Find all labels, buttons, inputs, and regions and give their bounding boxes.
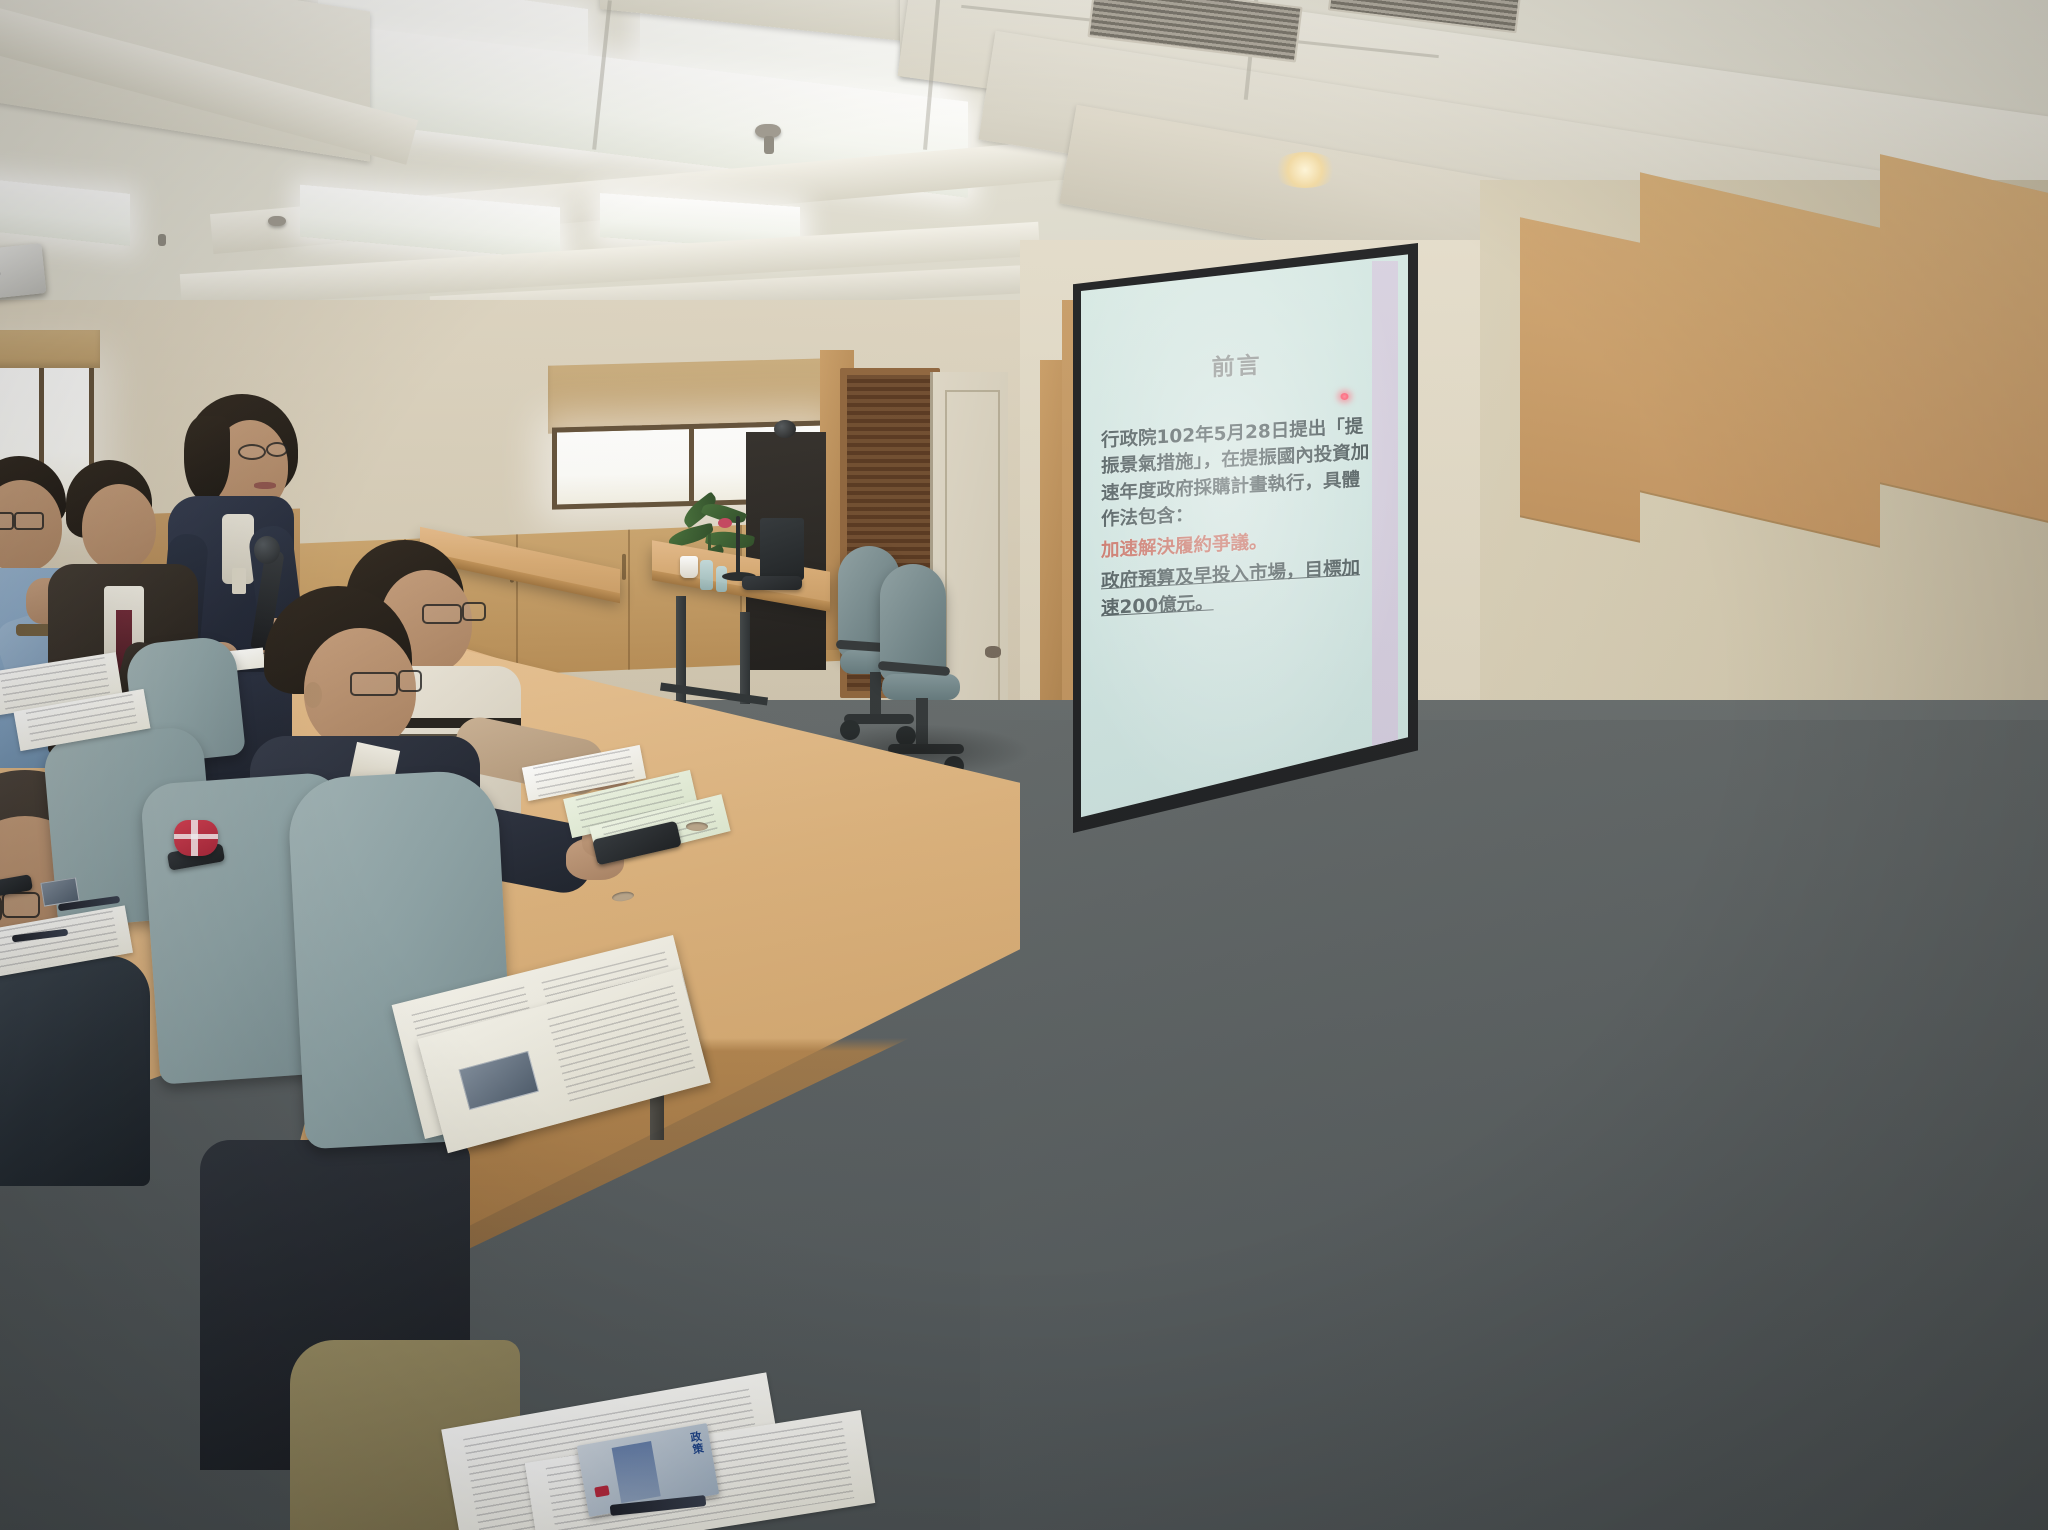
attendee-glasses: [2, 892, 40, 918]
pouch-stripe: [174, 834, 218, 839]
attendee-head: [82, 484, 156, 570]
fire-sprinkler: [158, 234, 166, 246]
gooseneck-microphone: [736, 516, 740, 574]
attendee-ear: [304, 682, 322, 708]
screen-surface: 前言 行政院102年5月28日提出「提振景氣措施」，在提振國內投資加速年度政府採…: [1081, 251, 1408, 823]
microphone-head: [254, 536, 280, 564]
webcam: [774, 420, 796, 438]
conference-room-photo: 前言 行政院102年5月28日提出「提振景氣措施」，在提振國內投資加速年度政府採…: [0, 0, 2048, 1530]
slide-bullet: 行政院102年5月28日提出「提振景氣措施」，在提振國內投資加速年度政府採購計畫…: [1101, 414, 1372, 534]
booklet-text-lines: [547, 985, 696, 1103]
ceiling-sensor: [268, 216, 286, 226]
presenter-badge: [232, 568, 246, 594]
grey-carpet-floor: [980, 720, 2048, 1530]
chair-seat: [882, 674, 960, 700]
presentation-slide: 前言 行政院102年5月28日提出「提振景氣措施」，在提振國內投資加速年度政府採…: [1095, 267, 1378, 804]
booklet-subtitle-band: [612, 1441, 661, 1503]
cabinet-handle[interactable]: [622, 554, 626, 580]
plant-flower: [718, 518, 732, 528]
presenter-mouth: [254, 482, 276, 489]
projection-screen: 前言 行政院102年5月28日提出「提振景氣措施」，在提振國內投資加速年度政府採…: [1073, 243, 1418, 833]
table-cable-grommet: [686, 822, 708, 831]
window-blind: [0, 330, 100, 368]
slide-bullet-underlined: 政府預算及早投入市場，目標加速200億元。: [1101, 555, 1372, 622]
window-mullion: [689, 429, 694, 501]
paper-cup: [680, 556, 698, 578]
door-knob[interactable]: [985, 646, 1001, 658]
keyboard[interactable]: [742, 576, 802, 590]
attendee-glasses: [350, 672, 398, 696]
presenter-glasses: [238, 444, 266, 460]
booklet-logo: [594, 1485, 610, 1497]
presenter-glasses: [266, 442, 288, 457]
fire-sprinkler: [764, 136, 774, 154]
desk-monitor: [760, 518, 804, 580]
laser-pointer-dot: [1340, 393, 1349, 400]
booklet-photo: [459, 1051, 539, 1110]
attendee-glasses: [14, 512, 44, 530]
recessed-downlight: [1272, 152, 1338, 188]
wood-wall-panel: [1640, 172, 1880, 547]
wood-wall-panel: [1520, 217, 1640, 543]
water-bottle: [700, 560, 713, 590]
slide-title: 前言: [1095, 339, 1378, 388]
ceiling-projector: [0, 243, 46, 299]
table-leg: [740, 612, 750, 704]
projector-lens: [0, 262, 1, 286]
slide-body: 行政院102年5月28日提出「提振景氣措施」，在提振國內投資加速年度政府採購計畫…: [1095, 413, 1378, 622]
attendee-glasses: [0, 512, 14, 530]
fluorescent-light-panel: [0, 178, 130, 246]
attendee-glasses: [398, 670, 422, 692]
wood-wall-panel: [1880, 154, 2048, 528]
red-pouch[interactable]: [174, 820, 218, 856]
booklet-title: 政策: [689, 1430, 710, 1487]
